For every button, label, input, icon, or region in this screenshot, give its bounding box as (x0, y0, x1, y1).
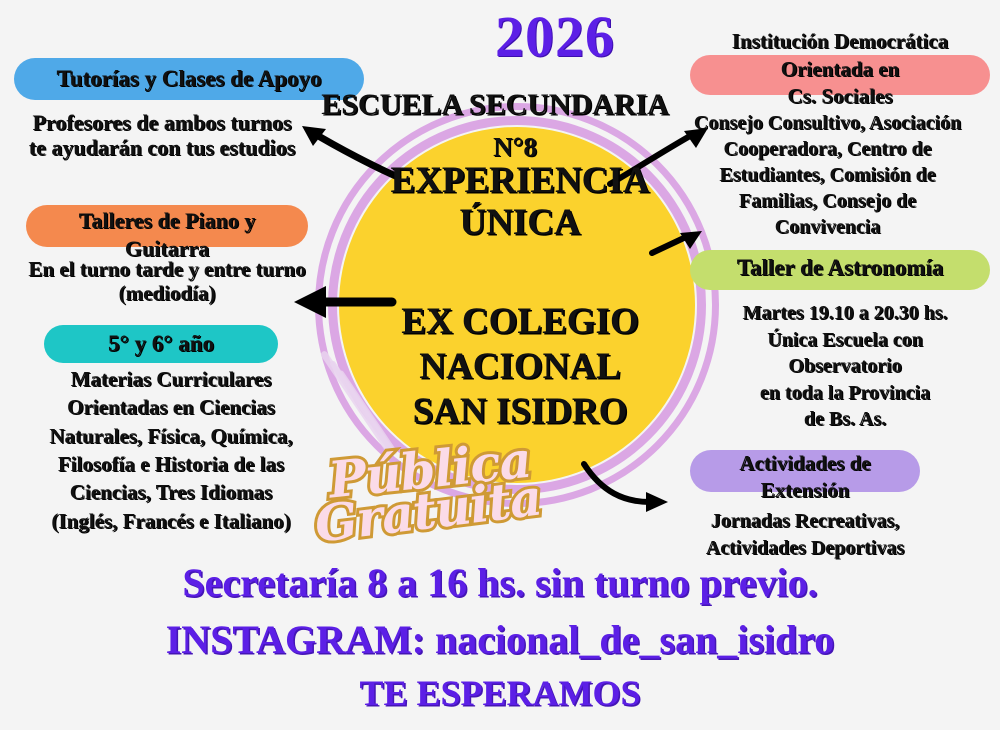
institucion-title-3: Cs. Sociales (680, 83, 1000, 111)
badge-body-astronomia: Martes 19.10 a 20.30 hs. Única Escuela c… (700, 300, 990, 433)
anios-line-6: (Inglés, Francés e Italiano) (6, 507, 336, 535)
badge-title-talleres: Talleres de Piano y Guitarra (26, 207, 308, 262)
astronomia-line-2: Única Escuela con (700, 327, 990, 354)
former-name-line-1: EX COLEGIO (330, 300, 710, 345)
tagline-line-2: ÚNICA (310, 202, 730, 244)
poster-canvas: 2026 ESCUELA SECUNDARIA N°8 EXPERIENCIA … (0, 0, 1000, 730)
badge-title-talleres-line-1: Talleres de Piano y (26, 207, 308, 235)
footer-secretaria: Secretaría 8 a 16 hs. sin turno previo. (0, 563, 1000, 603)
astronomia-line-1: Martes 19.10 a 20.30 hs. (700, 300, 990, 327)
anios-line-5: Ciencias, Tres Idiomas (6, 478, 336, 506)
extension-title-1: Actividades de (680, 450, 930, 477)
badge-body-talleres: En el turno tarde y entre turno (mediodí… (22, 258, 312, 306)
school-number: N°8 (400, 134, 630, 161)
astronomia-line-4: en toda la Provincia (700, 380, 990, 407)
arrow-to-extension (580, 452, 680, 514)
badge-title-anios: 5° y 6° año (44, 331, 278, 357)
anios-line-1: Materias Curriculares (6, 365, 336, 393)
badge-title-extension: Actividades de Extensión (680, 450, 930, 505)
school-name-heading: ESCUELA SECUNDARIA (295, 90, 695, 120)
footer-te-esperamos: TE ESPERAMOS (0, 675, 1000, 711)
astronomia-line-3: Observatorio (700, 353, 990, 380)
anios-line-3: Naturales, Física, Química, (6, 422, 336, 450)
former-name-line-2: NACIONAL (330, 345, 710, 390)
year-heading: 2026 (440, 8, 670, 66)
former-name-line-3: SAN ISIDRO (330, 390, 710, 435)
badge-title-tutorias: Tutorías y Clases de Apoyo (14, 66, 364, 92)
former-school-name: EX COLEGIO NACIONAL SAN ISIDRO (330, 300, 710, 434)
badge-title-astronomia: Taller de Astronomía (690, 255, 990, 281)
tagline-line-1: EXPERIENCIA (310, 160, 730, 202)
institucion-title-2: Orientada en (680, 56, 1000, 84)
extension-line-1: Jornadas Recreativas, (640, 508, 970, 535)
extension-line-2: Actividades Deportivas (640, 535, 970, 562)
tagline: EXPERIENCIA ÚNICA (310, 160, 730, 244)
badge-body-tutorias: Profesores de ambos turnos te ayudarán c… (22, 110, 302, 160)
badge-body-anios: Materias Curriculares Orientadas en Cien… (6, 365, 336, 535)
institucion-title-1: Institución Democrática (680, 28, 1000, 56)
badge-title-institucion: Institución Democrática Orientada en Cs.… (680, 28, 1000, 111)
badge-body-extension: Jornadas Recreativas, Actividades Deport… (640, 508, 970, 561)
astronomia-line-5: de Bs. As. (700, 406, 990, 433)
extension-title-2: Extensión (680, 477, 930, 504)
anios-line-2: Orientadas en Ciencias (6, 393, 336, 421)
anios-line-4: Filosofía e Historia de las (6, 450, 336, 478)
footer-instagram: INSTAGRAM: nacional_de_san_isidro (0, 620, 1000, 660)
